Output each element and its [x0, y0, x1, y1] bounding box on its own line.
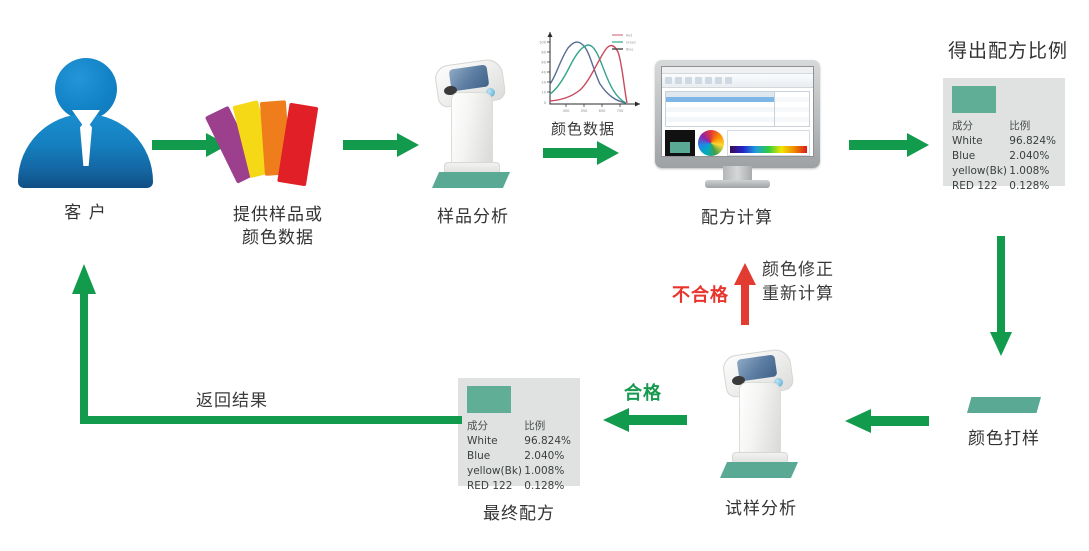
row-name: White	[467, 434, 524, 449]
svg-text:Blue: Blue	[626, 48, 633, 52]
spectrum-gradient-bar	[730, 146, 807, 153]
caption-customer: 客 户	[18, 202, 153, 225]
row-value: 96.824%	[1009, 134, 1056, 149]
row-name: RED 122	[952, 179, 1009, 194]
spectrophotometer-icon-trial	[716, 352, 806, 480]
caption-sample-analysis: 样品分析	[408, 206, 538, 229]
device-sample-pad-icon	[720, 462, 798, 478]
table-selected-row	[666, 97, 774, 102]
software-toolbar	[662, 74, 813, 88]
label-return-result: 返回结果	[196, 389, 268, 413]
monitor-base	[705, 180, 770, 188]
svg-text:40: 40	[541, 71, 546, 75]
arrow-pass-to-final	[603, 407, 687, 433]
table-row: RED 122 0.128%	[952, 179, 1056, 194]
toolbar-icon	[715, 77, 722, 84]
color-preview-swatch	[665, 130, 695, 156]
monitor-screen	[661, 66, 814, 157]
formula-card-result: 成分 比例 White 96.824% Blue 2.040% yellow(B…	[943, 78, 1065, 186]
color-wheel-icon	[698, 130, 724, 156]
svg-text:Red: Red	[626, 34, 632, 38]
svg-text:550: 550	[581, 109, 589, 113]
table-header-row: 成分 比例	[467, 419, 571, 434]
svg-text:450: 450	[563, 109, 571, 113]
toolbar-icon	[725, 77, 732, 84]
table-side-panel	[774, 92, 809, 126]
row-value: 96.824%	[524, 434, 571, 449]
arrow-fail-recalculate	[732, 263, 758, 325]
spectral-curve-chart: 10080 6040 2010 0 450550 650750 Red	[528, 26, 650, 118]
row-name: yellow(Bk)	[952, 164, 1009, 179]
table-main	[666, 92, 774, 126]
label-fail: 不合格	[672, 281, 729, 307]
table-row: RED 122 0.128%	[467, 479, 571, 494]
software-data-table	[665, 91, 810, 127]
row-value: 1.008%	[1009, 164, 1056, 179]
svg-text:650: 650	[599, 109, 607, 113]
formula-table: 成分 比例 White 96.824% Blue 2.040% yellow(B…	[952, 119, 1056, 194]
row-name: yellow(Bk)	[467, 464, 524, 479]
arrow-sample-to-analysis	[343, 131, 419, 159]
label-color-data: 颜色数据	[551, 117, 615, 141]
label-pass: 合格	[624, 379, 662, 405]
arrow-calc-to-formula	[849, 131, 929, 159]
preview-color-chip	[670, 142, 690, 153]
header-ratio: 比例	[524, 419, 571, 434]
software-lower-panel	[665, 130, 810, 156]
toolbar-icon	[695, 77, 702, 84]
spectrum-panel	[727, 130, 810, 156]
header-ratio: 比例	[1009, 119, 1056, 134]
arrow-proof-to-trial	[845, 408, 929, 434]
svg-text:0: 0	[544, 101, 547, 105]
toolbar-icon	[665, 77, 672, 84]
caption-final-formula: 最终配方	[458, 503, 580, 526]
table-row: White 96.824%	[952, 134, 1056, 149]
page-title: 得出配方比例	[948, 36, 1068, 63]
header-component: 成分	[952, 119, 1009, 134]
toolbar-icon	[685, 77, 692, 84]
row-name: Blue	[952, 149, 1009, 164]
table-row: yellow(Bk) 1.008%	[952, 164, 1056, 179]
table-header-row: 成分 比例	[952, 119, 1056, 134]
row-value: 2.040%	[1009, 149, 1056, 164]
row-name: White	[952, 134, 1009, 149]
monitor-icon	[655, 60, 820, 188]
person-icon	[18, 58, 153, 188]
svg-text:100: 100	[539, 41, 547, 45]
svg-text:80: 80	[541, 51, 546, 55]
row-name: Blue	[467, 449, 524, 464]
header-component: 成分	[467, 419, 524, 434]
label-recalculate: 颜色修正 重新计算	[762, 258, 834, 306]
formula-color-swatch	[952, 86, 996, 113]
device-sample-pad-icon	[432, 172, 510, 188]
workflow-diagram: 得出配方比例 客 户 提供样品或 颜色数据	[0, 0, 1089, 551]
row-value: 1.008%	[524, 464, 571, 479]
caption-color-proof: 颜色打样	[939, 428, 1069, 451]
table-row: Blue 2.040%	[952, 149, 1056, 164]
svg-text:60: 60	[541, 61, 546, 65]
color-fan-icon	[232, 98, 324, 184]
software-menubar	[662, 67, 813, 74]
caption-formula-calc: 配方计算	[672, 207, 802, 230]
svg-text:750: 750	[617, 109, 625, 113]
toolbar-icon	[705, 77, 712, 84]
svg-text:10: 10	[541, 91, 546, 95]
table-row: White 96.824%	[467, 434, 571, 449]
row-value: 0.128%	[1009, 179, 1056, 194]
svg-text:20: 20	[541, 81, 546, 85]
caption-sample-provide: 提供样品或 颜色数据	[203, 204, 353, 250]
formula-table-final: 成分 比例 White 96.824% Blue 2.040% yellow(B…	[467, 419, 571, 494]
arrow-analysis-to-calc	[543, 139, 619, 167]
row-value: 2.040%	[524, 449, 571, 464]
row-value: 0.128%	[524, 479, 571, 494]
device-grip-icon	[739, 382, 781, 462]
formula-color-swatch	[467, 386, 511, 413]
caption-trial-analysis: 试样分析	[696, 498, 826, 521]
svg-text:Green: Green	[626, 41, 636, 45]
row-name: RED 122	[467, 479, 524, 494]
device-grip-icon	[451, 92, 493, 172]
table-row: yellow(Bk) 1.008%	[467, 464, 571, 479]
proof-color-swatch	[967, 397, 1041, 413]
table-row: Blue 2.040%	[467, 449, 571, 464]
formula-card-final: 成分 比例 White 96.824% Blue 2.040% yellow(B…	[458, 378, 580, 486]
arrow-formula-to-proof	[988, 236, 1014, 356]
spectrophotometer-icon	[428, 62, 518, 190]
toolbar-icon	[675, 77, 682, 84]
